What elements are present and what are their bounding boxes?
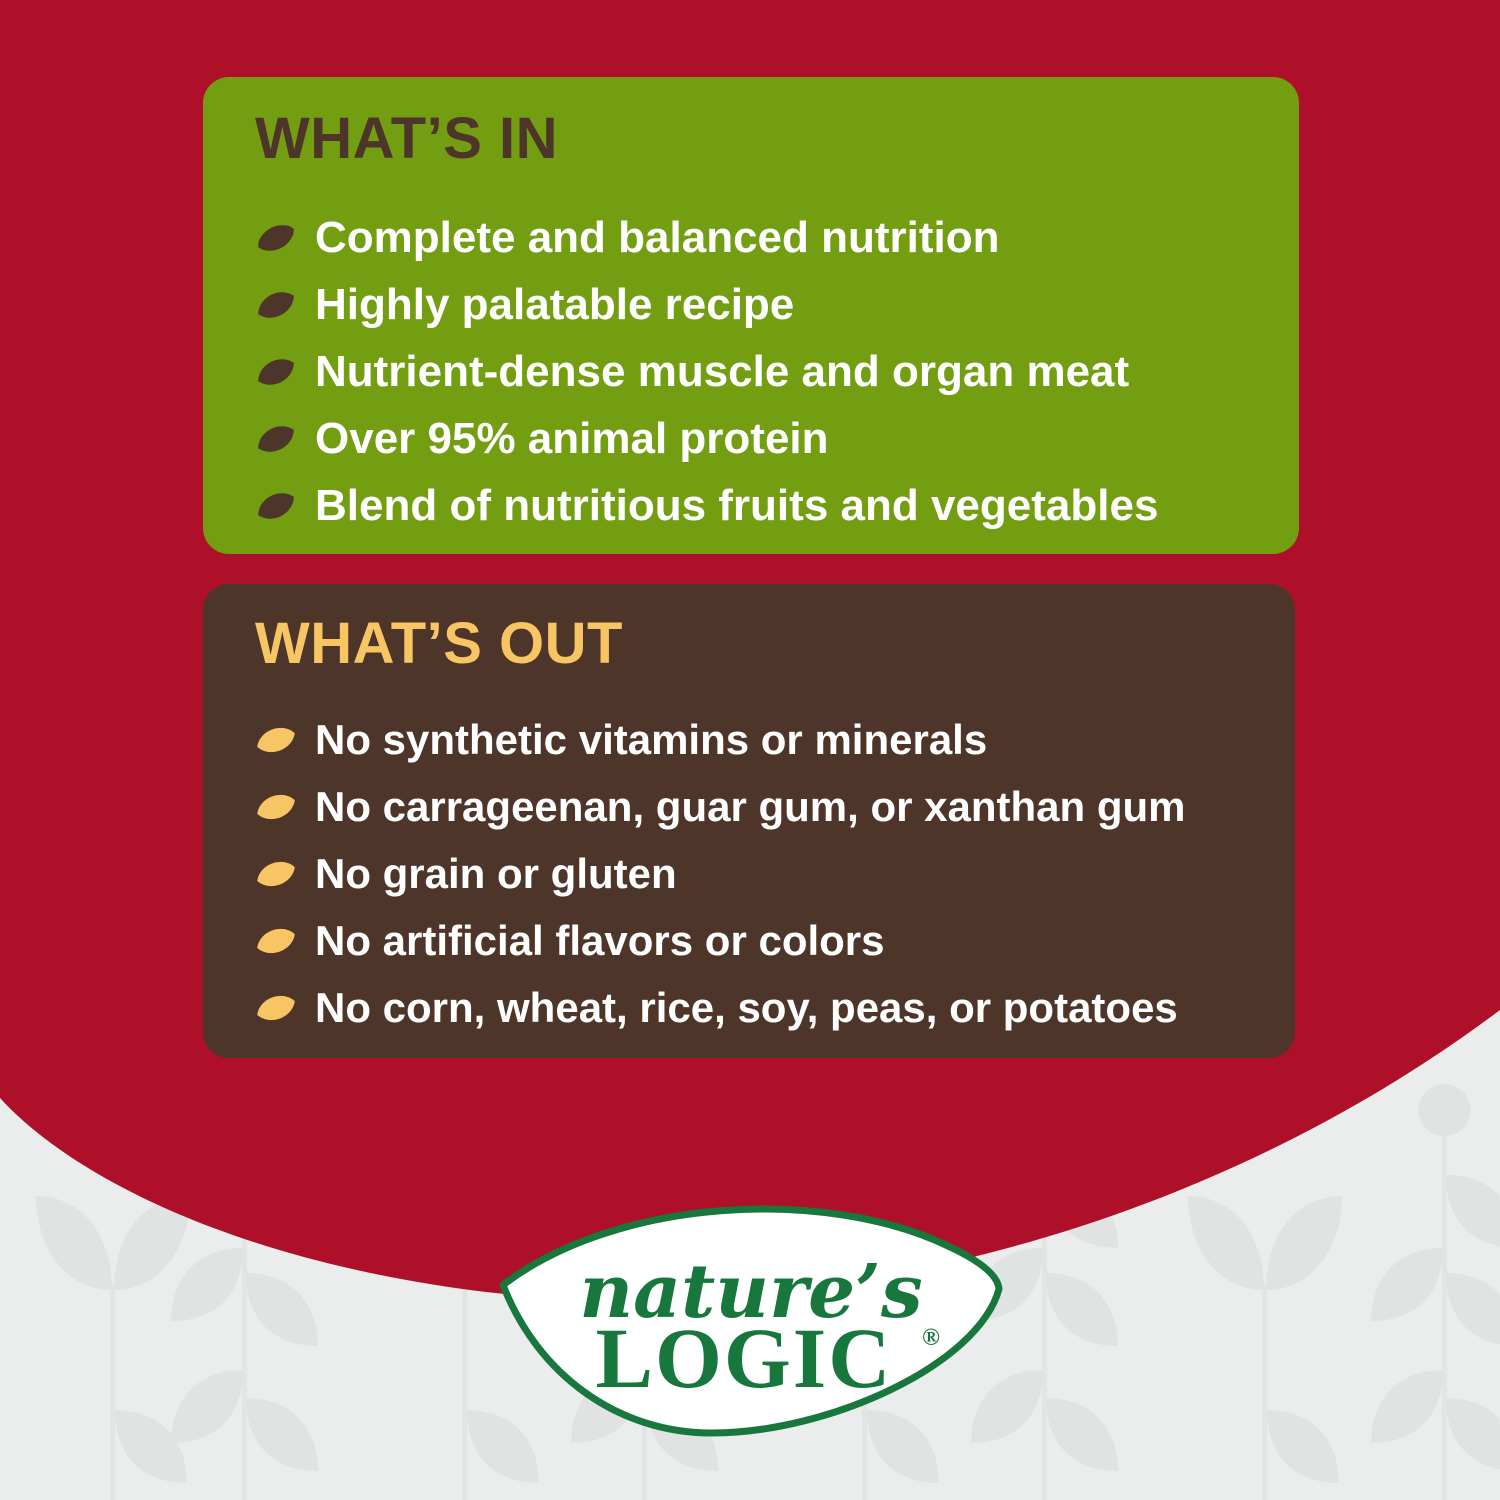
leaf-icon [253,985,299,1031]
list-item: No artificial flavors or colors [253,907,1186,974]
list-item: No synthetic vitamins or minerals [253,706,1186,773]
list-item: Highly palatable recipe [253,271,1158,338]
leaf-icon [253,918,299,964]
list-item: Nutrient-dense muscle and organ meat [253,338,1158,405]
list-item-label: Nutrient-dense muscle and organ meat [315,350,1129,394]
leaf-icon [253,784,299,830]
leaf-icon [253,483,299,529]
list-item-label: Blend of nutritious fruits and vegetable… [315,484,1158,528]
leaf-icon [253,349,299,395]
list-item-label: No corn, wheat, rice, soy, peas, or pota… [315,987,1178,1029]
whats-in-heading: WHAT’S IN [255,105,558,172]
leaf-icon [253,416,299,462]
logo-trademark: ® [922,1325,940,1351]
list-item-label: No carrageenan, guar gum, or xanthan gum [315,786,1186,828]
list-item: No carrageenan, guar gum, or xanthan gum [253,773,1186,840]
brand-logo: nature’s LOGIC ® [498,1205,1004,1437]
list-item-label: No grain or gluten [315,853,677,895]
list-item: Complete and balanced nutrition [253,204,1158,271]
leaf-icon [253,215,299,261]
whats-in-panel: WHAT’S IN Complete and balanced nutritio… [203,77,1299,554]
leaf-icon [253,717,299,763]
whats-out-heading: WHAT’S OUT [255,610,623,677]
list-item: Blend of nutritious fruits and vegetable… [253,472,1158,539]
list-item-label: No synthetic vitamins or minerals [315,719,987,761]
list-item: Over 95% animal protein [253,405,1158,472]
leaf-icon [253,851,299,897]
list-item-label: Over 95% animal protein [315,417,829,461]
whats-out-panel: WHAT’S OUT No synthetic vitamins or mine… [203,584,1295,1058]
leaf-icon [253,282,299,328]
whats-in-list: Complete and balanced nutrition Highly p… [253,204,1158,539]
logo-serif-text: LOGIC [596,1310,893,1406]
list-item: No corn, wheat, rice, soy, peas, or pota… [253,974,1186,1041]
whats-out-list: No synthetic vitamins or minerals No car… [253,706,1186,1041]
list-item-label: No artificial flavors or colors [315,920,885,962]
list-item-label: Highly palatable recipe [315,283,794,327]
list-item: No grain or gluten [253,840,1186,907]
list-item-label: Complete and balanced nutrition [315,216,1000,260]
